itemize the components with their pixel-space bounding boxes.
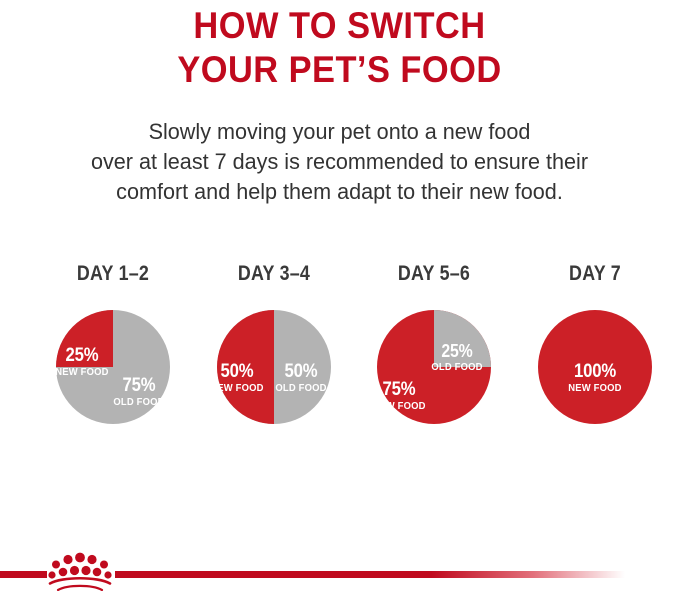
- crown-icon: [46, 551, 114, 591]
- footer-rule-right: [115, 571, 625, 578]
- footer-rule-left: [0, 571, 47, 578]
- footer: [0, 0, 679, 594]
